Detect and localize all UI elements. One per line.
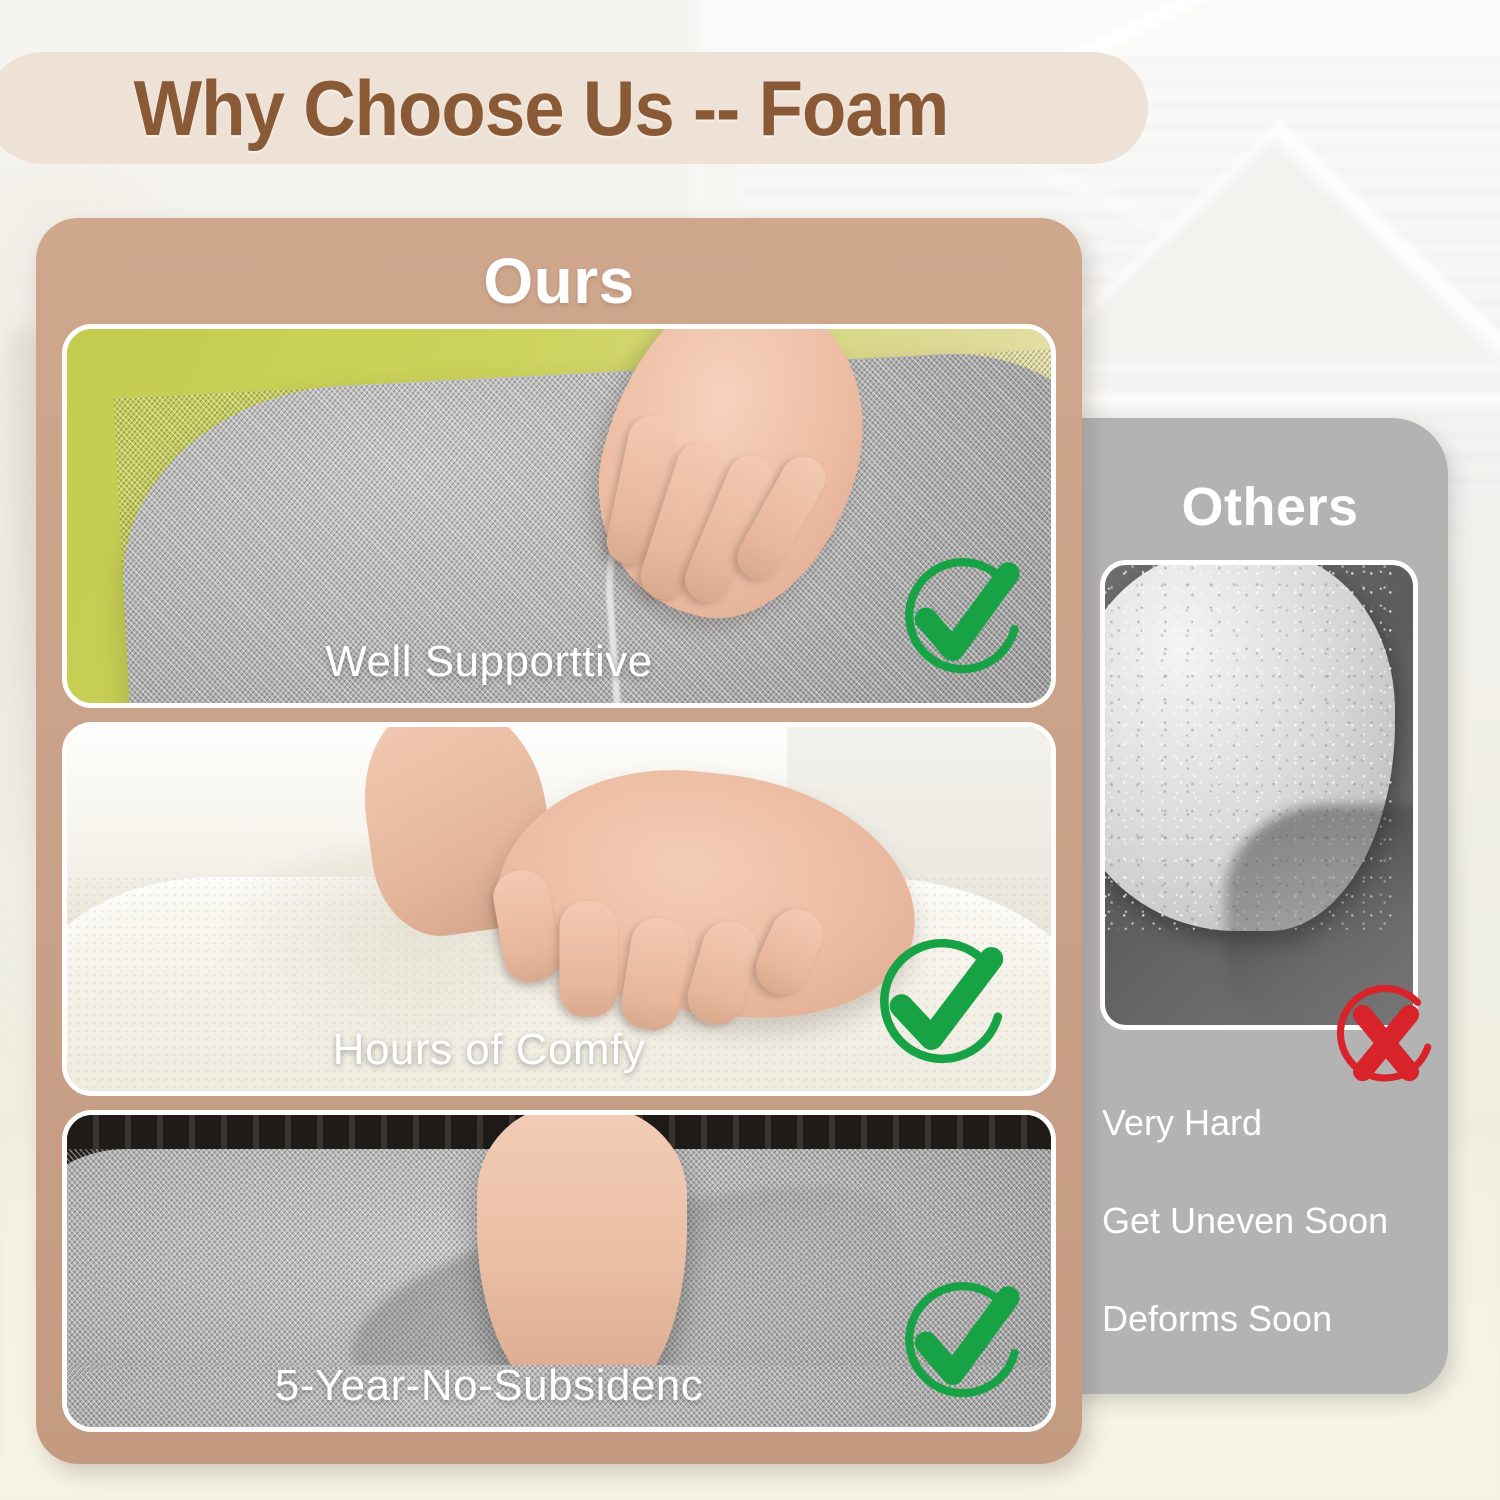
page-title-banner: Why Choose Us -- Foam	[0, 52, 1148, 164]
ours-card-3: 5-Year-No-Subsidenc	[62, 1110, 1056, 1432]
list-item: Deforms Soon	[1102, 1298, 1432, 1340]
finger	[559, 901, 617, 1017]
check-icon	[865, 931, 1015, 1081]
ours-panel: Ours Well Supporttive	[36, 218, 1082, 1464]
page-title: Why Choose Us -- Foam	[134, 63, 949, 154]
others-bullet-list: Very Hard Get Uneven Soon Deforms Soon	[1102, 1102, 1432, 1396]
ours-card-2: Hours of Comfy	[62, 722, 1056, 1096]
ours-panel-title: Ours	[36, 244, 1082, 318]
check-icon	[889, 1275, 1033, 1419]
others-panel-title: Others	[1056, 476, 1448, 538]
others-photo	[1100, 560, 1418, 1030]
foot-graphic	[477, 1110, 687, 1405]
ours-card-1: Well Supporttive	[62, 324, 1056, 708]
list-item: Very Hard	[1102, 1102, 1432, 1144]
others-panel: Others Very Hard Get Uneven Soon Deforms…	[1056, 418, 1448, 1394]
list-item: Get Uneven Soon	[1102, 1200, 1432, 1242]
finger	[748, 901, 831, 1003]
background-gable-trim	[1035, 138, 1500, 366]
check-icon	[889, 551, 1033, 695]
cross-icon	[1324, 980, 1446, 1102]
finger	[681, 915, 763, 1030]
